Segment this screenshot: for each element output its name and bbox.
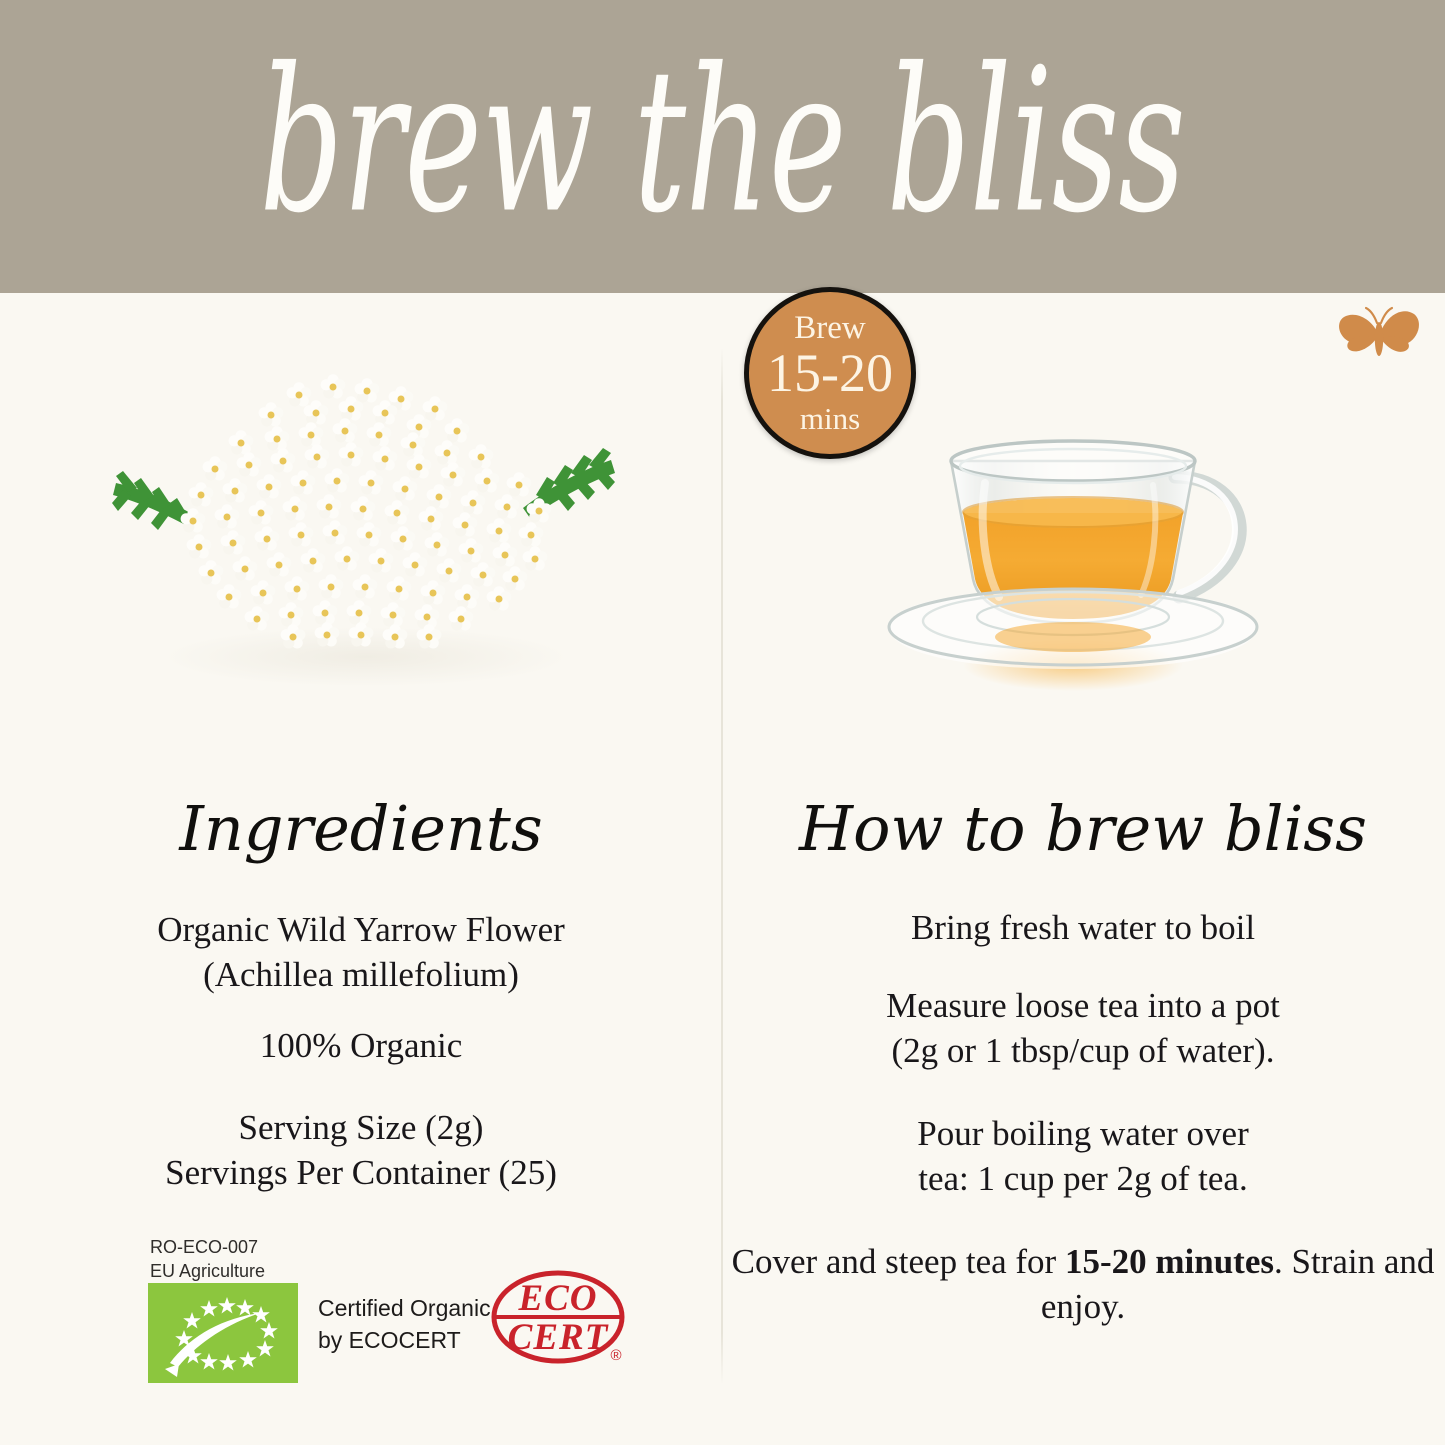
teacup-hero: Brew 15-20 mins bbox=[722, 293, 1444, 763]
ingredient-latin-name: (Achillea millefolium) bbox=[0, 952, 722, 997]
brew-step-4-unit: minutes bbox=[1155, 1242, 1274, 1281]
brewing-heading: How to brew bliss bbox=[722, 798, 1444, 860]
brew-step-2: Measure loose tea into a pot (2g or 1 tb… bbox=[722, 983, 1444, 1073]
page-title: brew the bliss bbox=[260, 41, 1185, 251]
eu-code-line-2: EU Agriculture bbox=[150, 1259, 265, 1283]
serving-info: Serving Size (2g) Servings Per Container… bbox=[0, 1105, 722, 1195]
brew-time-badge: Brew 15-20 mins bbox=[744, 287, 916, 459]
brew-badge-unit: mins bbox=[800, 403, 860, 434]
serving-size: Serving Size (2g) bbox=[0, 1105, 722, 1150]
eu-organic-leaf-icon bbox=[148, 1283, 298, 1383]
brew-step-2-line-1: Measure loose tea into a pot bbox=[722, 983, 1444, 1028]
eu-certifier-code: RO-ECO-007 EU Agriculture bbox=[150, 1235, 265, 1284]
content-area: Ingredients Organic Wild Yarrow Flower (… bbox=[0, 293, 1445, 1445]
eu-code-line-1: RO-ECO-007 bbox=[150, 1235, 265, 1259]
ecocert-caption-line-1: Certified Organic bbox=[318, 1293, 491, 1325]
svg-text:CERT: CERT bbox=[508, 1317, 609, 1358]
ingredients-heading: Ingredients bbox=[0, 798, 722, 860]
servings-per-container: Servings Per Container (25) bbox=[0, 1150, 722, 1195]
brew-step-2-line-2: (2g or 1 tbsp/cup of water). bbox=[722, 1028, 1444, 1073]
butterfly-icon bbox=[1334, 303, 1424, 374]
brew-step-1: Bring fresh water to boil bbox=[722, 905, 1444, 950]
brew-step-3: Pour boiling water over tea: 1 cup per 2… bbox=[722, 1111, 1444, 1201]
brew-step-3-line-1: Pour boiling water over bbox=[722, 1111, 1444, 1156]
header-banner: brew the bliss bbox=[0, 0, 1445, 293]
ecocert-caption-line-2: by ECOCERT bbox=[318, 1325, 491, 1357]
brew-badge-duration: 15-20 bbox=[767, 346, 893, 401]
brew-badge-label: Brew bbox=[794, 312, 865, 345]
brew-step-4-pre: Cover and steep tea for bbox=[732, 1242, 1065, 1281]
ingredients-column: Ingredients Organic Wild Yarrow Flower (… bbox=[0, 293, 722, 1445]
brew-step-4-duration: 15-20 bbox=[1065, 1242, 1147, 1281]
ecocert-logo-icon: ECO CERT ® bbox=[488, 1265, 633, 1377]
brew-step-4: Cover and steep tea for 15-20 minutes. S… bbox=[722, 1239, 1444, 1329]
organic-claim: 100% Organic bbox=[0, 1023, 722, 1068]
yarrow-hero bbox=[0, 293, 722, 763]
svg-text:®: ® bbox=[610, 1347, 621, 1364]
brew-step-3-line-2: tea: 1 cup per 2g of tea. bbox=[722, 1156, 1444, 1201]
ecocert-caption: Certified Organic by ECOCERT bbox=[318, 1293, 491, 1356]
brewing-column: Brew 15-20 mins How to brew bliss Bring … bbox=[722, 293, 1444, 1445]
ingredient-common-name: Organic Wild Yarrow Flower bbox=[0, 907, 722, 952]
certification-row: RO-ECO-007 EU Agriculture bbox=[148, 1235, 658, 1385]
ingredient-botanical: Organic Wild Yarrow Flower (Achillea mil… bbox=[0, 907, 722, 997]
yarrow-flower-cluster-image bbox=[71, 365, 651, 695]
svg-text:ECO: ECO bbox=[517, 1278, 597, 1319]
